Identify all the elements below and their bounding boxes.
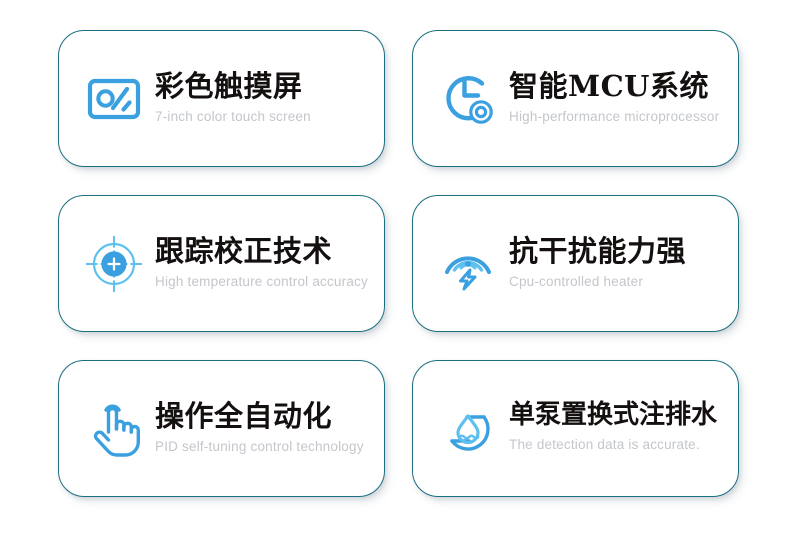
feature-text-block: 抗干扰能力强 Cpu-controlled heater [509,235,686,293]
feature-card-single-pump-water[interactable]: 单泵置换式注排水 The detection data is accurate. [412,360,739,497]
feature-subtitle: 7-inch color touch screen [155,109,311,125]
feature-card-color-touch-screen[interactable]: 彩色触摸屏 7-inch color touch screen [58,30,385,167]
water-drop-cycle-icon [435,396,501,462]
feature-card-tracking-calibration[interactable]: 跟踪校正技术 High temperature control accuracy [58,195,385,332]
feature-text-block: 操作全自动化 PID self-tuning control technolog… [155,400,364,458]
feature-subtitle: The detection data is accurate. [509,437,717,453]
feature-card-smart-mcu[interactable]: 智能MCU系统 High-performance microprocessor [412,30,739,167]
feature-card-anti-interference[interactable]: 抗干扰能力强 Cpu-controlled heater [412,195,739,332]
feature-title: 智能MCU系统 [509,70,719,102]
feature-text-block: 智能MCU系统 High-performance microprocessor [509,70,719,128]
feature-title: 跟踪校正技术 [155,235,368,267]
feature-subtitle: PID self-tuning control technology [155,439,364,455]
feature-text-block: 彩色触摸屏 7-inch color touch screen [155,70,311,128]
feature-text-block: 单泵置换式注排水 The detection data is accurate. [509,401,717,455]
feature-title: 操作全自动化 [155,400,364,432]
feature-text-block: 跟踪校正技术 High temperature control accuracy [155,235,368,293]
feature-card-full-automation[interactable]: 操作全自动化 PID self-tuning control technolog… [58,360,385,497]
signal-bolt-icon [435,231,501,297]
feature-subtitle: Cpu-controlled heater [509,274,686,290]
feature-subtitle: High temperature control accuracy [155,274,368,290]
clock-mcu-icon [435,66,501,132]
feature-card-grid: 彩色触摸屏 7-inch color touch screen 智能MCU系统 … [0,0,790,545]
feature-title: 单泵置换式注排水 [509,401,717,430]
crosshair-target-icon [81,231,147,297]
color-touch-screen-icon [81,66,147,132]
feature-title: 彩色触摸屏 [155,70,311,102]
touch-hand-icon [81,396,147,462]
feature-title: 抗干扰能力强 [509,235,686,267]
feature-subtitle: High-performance microprocessor [509,109,719,125]
